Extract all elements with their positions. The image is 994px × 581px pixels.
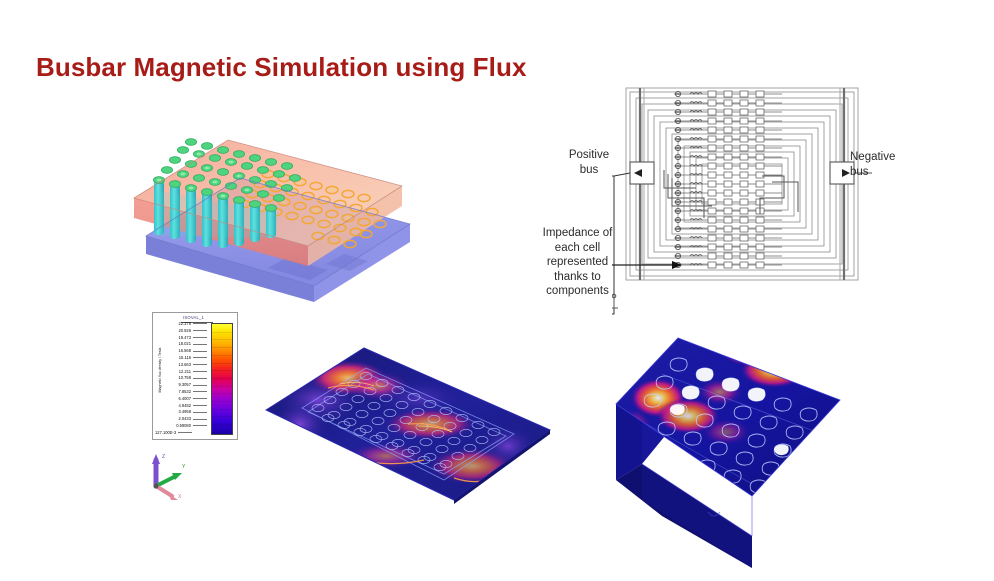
legend-tick: 19.473 (161, 335, 207, 342)
axis-x: X (156, 486, 182, 500)
legend-tick: 0.59080 (161, 423, 207, 430)
colorbar-legend: ISOVAL_1 Magnetic flux density / Tesla 2… (152, 312, 238, 440)
legend-tick: 3.4958 (161, 409, 207, 416)
legend-tick: 13.663 (161, 362, 207, 369)
legend-tick: 22.378 (161, 321, 207, 328)
field-plot-flat-figure (258, 338, 558, 510)
legend-color-bar (211, 323, 233, 435)
callout-positive-bus: Positive bus (545, 148, 633, 177)
legend-tick: 4.9482 (161, 403, 207, 410)
axis-y: Y (156, 464, 186, 486)
legend-tick: 127.100E-3 (137, 430, 192, 437)
legend-tick: 15.116 (161, 355, 207, 362)
page-title: Busbar Magnetic Simulation using Flux (36, 52, 527, 83)
callout-impedance: Impedance of each cell represented thank… (520, 226, 635, 299)
legend-tick: 18.021 (161, 341, 207, 348)
legend-tick: 2.0433 (161, 416, 207, 423)
cad-model-figure (118, 118, 428, 303)
slide-canvas: Busbar Magnetic Simulation using Flux (0, 0, 994, 581)
svg-text:X: X (178, 494, 182, 500)
terminal-positive (630, 162, 654, 184)
legend-tick: 12.211 (161, 369, 207, 376)
legend-tick: 6.4007 (161, 396, 207, 403)
legend-tick: 16.568 (161, 348, 207, 355)
field-plot-3d-figure (602, 336, 852, 572)
circuit-schematic-figure (612, 78, 872, 318)
callout-negative-bus: Negative bus (850, 150, 942, 179)
legend-tick: 10.758 (161, 375, 207, 382)
legend-title: ISOVAL_1 (183, 315, 204, 320)
svg-text:Z: Z (162, 454, 165, 460)
legend-tick: 7.8532 (161, 389, 207, 396)
legend-tick-list: 22.378 20.926 19.473 18.021 16.568 15.11… (161, 321, 207, 437)
svg-text:Y: Y (182, 464, 186, 470)
legend-tick: 20.926 (161, 328, 207, 335)
legend-tick: 9.3057 (161, 382, 207, 389)
axis-triad: Z Y X (138, 448, 202, 504)
